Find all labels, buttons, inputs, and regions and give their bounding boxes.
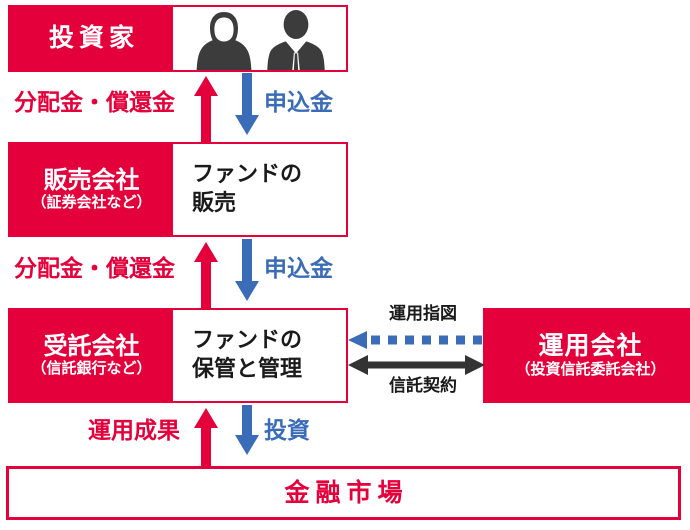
arrow-up-distribution-2-icon bbox=[193, 242, 219, 314]
trustee-company-description: ファンドの 保管と管理 bbox=[173, 310, 346, 401]
financial-market-label: 金融市場 bbox=[278, 480, 408, 506]
flow-label-distribution-2: 分配金・償還金 bbox=[14, 258, 175, 281]
arrow-down-subscription-2-icon bbox=[234, 239, 260, 305]
flow-label-distribution-1: 分配金・償還金 bbox=[14, 92, 175, 115]
investor-label-cell: 投資家 bbox=[10, 7, 173, 70]
arrow-left-dotted-instruction-icon bbox=[348, 331, 485, 353]
management-company-box: 運用会社 （投資信託委託会社） bbox=[483, 308, 690, 403]
sales-company-sublabel: （証券会社など） bbox=[31, 194, 151, 211]
financial-market-box: 金融市場 bbox=[6, 466, 681, 520]
trustee-company-box: 受託会社 （信託銀行など） ファンドの 保管と管理 bbox=[8, 308, 348, 403]
arrow-down-subscription-1-icon bbox=[234, 73, 260, 139]
flow-label-management-instruction: 運用指図 bbox=[389, 306, 457, 323]
arrow-up-investment-result-icon bbox=[193, 408, 219, 472]
flow-label-investment-result: 運用成果 bbox=[88, 420, 180, 443]
sales-company-label-cell: 販売会社 （証券会社など） bbox=[10, 144, 173, 235]
sales-company-description: ファンドの 販売 bbox=[173, 144, 346, 235]
investment-trust-flow-diagram: 投資家 分配金・償還 bbox=[0, 0, 690, 530]
flow-label-investment: 投資 bbox=[264, 420, 310, 443]
investor-label: 投資家 bbox=[44, 25, 139, 51]
management-company-label: 運用会社 bbox=[538, 333, 642, 359]
person-male-icon bbox=[267, 8, 325, 70]
sales-desc-line-2: 販売 bbox=[192, 190, 236, 218]
management-company-sublabel: （投資信託委託会社） bbox=[515, 361, 665, 378]
trustee-company-label-cell: 受託会社 （信託銀行など） bbox=[10, 310, 173, 401]
sales-desc-line-1: ファンドの bbox=[192, 161, 302, 189]
arrow-down-investment-icon bbox=[234, 405, 260, 459]
trustee-company-sublabel: （信託銀行など） bbox=[31, 360, 151, 377]
flow-label-subscription-2: 申込金 bbox=[264, 258, 333, 281]
trustee-desc-line-1: ファンドの bbox=[192, 327, 302, 355]
sales-company-label: 販売会社 bbox=[44, 168, 140, 193]
flow-label-trust-contract: 信託契約 bbox=[389, 378, 457, 395]
person-female-icon bbox=[195, 8, 253, 70]
trustee-company-label: 受託会社 bbox=[44, 334, 140, 359]
investor-icon-group bbox=[173, 7, 346, 70]
trustee-desc-line-2: 保管と管理 bbox=[192, 356, 302, 384]
investor-box: 投資家 bbox=[8, 5, 348, 72]
arrow-up-distribution-1-icon bbox=[193, 76, 219, 148]
sales-company-box: 販売会社 （証券会社など） ファンドの 販売 bbox=[8, 142, 348, 237]
flow-label-subscription-1: 申込金 bbox=[264, 92, 333, 115]
